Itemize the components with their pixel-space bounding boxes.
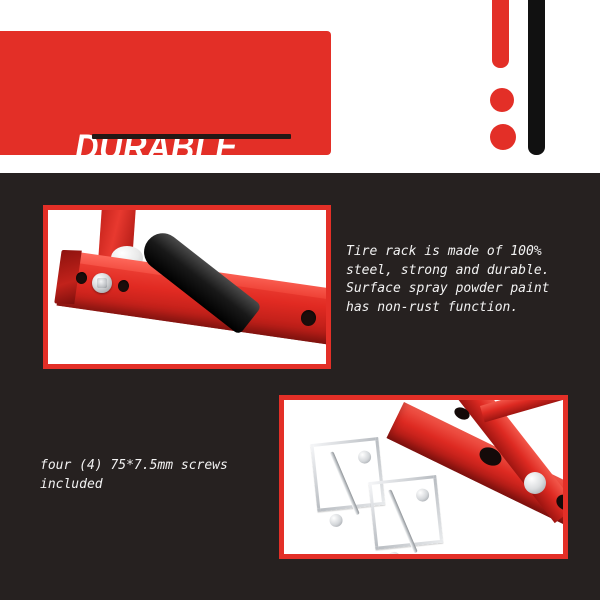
exclamation-bar-black-icon — [528, 0, 545, 155]
title-underline — [92, 134, 291, 139]
exclamation-dot-red-icon — [490, 88, 514, 112]
steel-bolt — [92, 273, 112, 293]
header-section: DURABLE MATERIALS — [0, 0, 600, 173]
safety-pin-clip — [368, 474, 451, 554]
material-description-text: Tire rack is made of 100% steel, strong … — [346, 243, 582, 317]
clip-wire-loop — [368, 475, 443, 550]
title-banner: DURABLE MATERIALS — [0, 31, 331, 155]
product-photo-clips-artwork — [284, 400, 563, 554]
clip-knob — [387, 551, 401, 559]
clip-knob — [329, 513, 343, 527]
product-photo-clips — [279, 395, 568, 559]
exclamation-dot-red-secondary-icon — [490, 124, 516, 150]
pin-head — [524, 472, 546, 494]
screws-included-text: four (4) 75*7.5mm screws included — [40, 457, 270, 494]
product-photo-tube — [43, 205, 331, 369]
product-photo-tube-artwork — [48, 210, 326, 364]
exclamation-bar-red-icon — [492, 0, 509, 68]
infographic-canvas: DURABLE MATERIALS — [0, 0, 600, 600]
